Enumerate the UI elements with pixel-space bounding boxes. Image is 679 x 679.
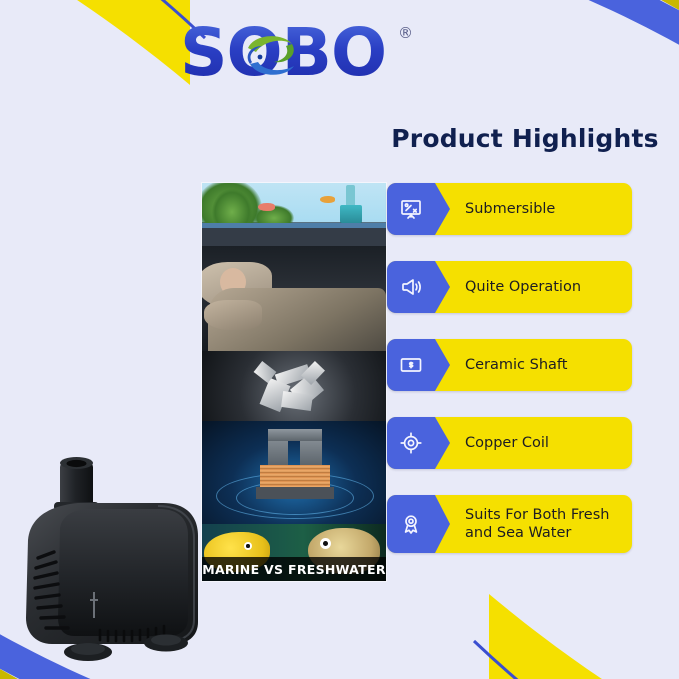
- feature-row-copper-coil[interactable]: Copper Coil: [387, 417, 632, 469]
- registered-trademark-icon: ®: [398, 24, 413, 42]
- aquarium-tank-photo: [202, 183, 386, 246]
- strategy-board-icon: [399, 197, 423, 221]
- banknote-icon: [399, 353, 423, 377]
- feature-label: Copper Coil: [465, 434, 559, 452]
- fish-swirl-icon: [240, 28, 302, 84]
- feature-badge: [387, 339, 435, 391]
- feature-row-quite-operation[interactable]: Quite Operation: [387, 261, 632, 313]
- feature-row-fresh-and-sea-water[interactable]: Suits For Both Fresh and Sea Water: [387, 495, 632, 553]
- feature-badge: [387, 495, 435, 553]
- infographic-canvas: SOBO ® Product Highlights: [0, 0, 679, 679]
- feature-label: Submersible: [465, 200, 565, 218]
- target-icon: [399, 431, 423, 455]
- feature-label: Suits For Both Fresh and Sea Water: [465, 506, 632, 542]
- megaphone-icon: [399, 275, 423, 299]
- submersible-water-pump: [8, 440, 223, 679]
- feature-badge: [387, 417, 435, 469]
- feature-badge: [387, 183, 435, 235]
- feature-list: Submersible Quite Operation Ceramic Shaf…: [387, 183, 632, 579]
- feature-badge: [387, 261, 435, 313]
- feature-label: Quite Operation: [465, 278, 591, 296]
- page-title: Product Highlights: [380, 124, 670, 153]
- brand-logo: SOBO ®: [0, 8, 679, 96]
- ceramic-shaft-photo: [202, 351, 386, 421]
- collage-caption: MARINE VS FRESHWATER: [202, 557, 386, 581]
- award-ribbon-icon: [399, 512, 423, 536]
- pump-outlet-spout: [54, 457, 99, 511]
- feature-label: Ceramic Shaft: [465, 356, 577, 374]
- sleeping-person-photo: [202, 246, 386, 351]
- feature-row-submersible[interactable]: Submersible: [387, 183, 632, 235]
- product-photo-collage: MARINE VS FRESHWATER: [202, 183, 386, 581]
- feature-row-ceramic-shaft[interactable]: Ceramic Shaft: [387, 339, 632, 391]
- copper-coil-photo: [202, 421, 386, 524]
